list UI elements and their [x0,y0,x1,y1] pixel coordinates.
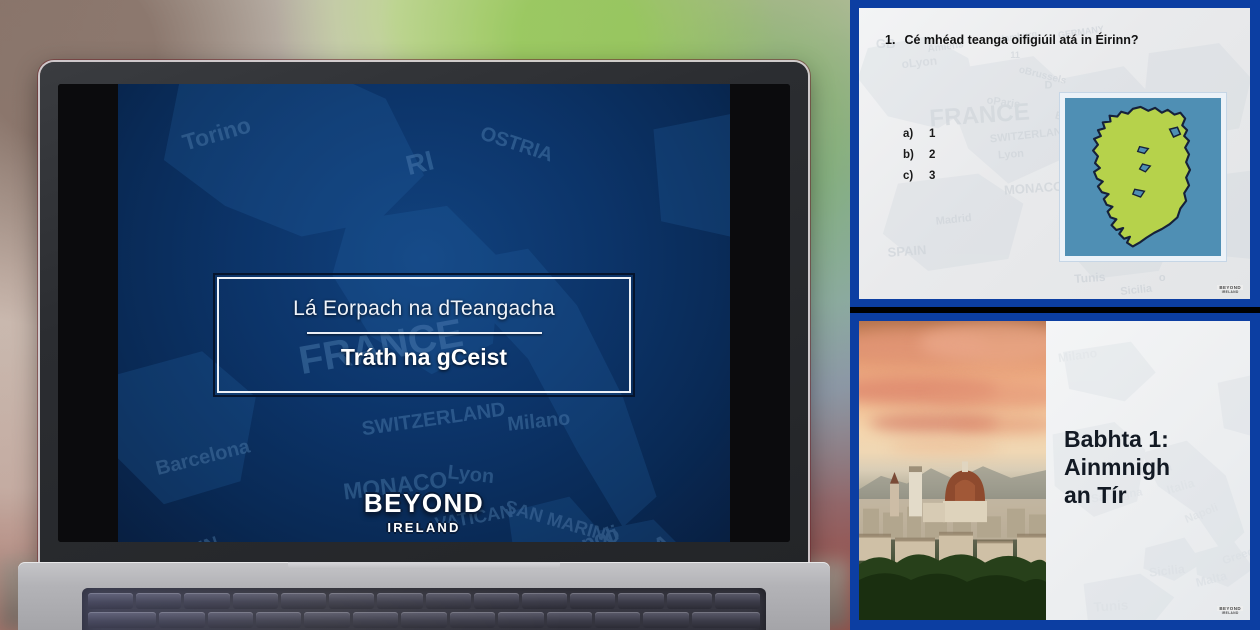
laptop-lid: Torino Torino RI OSTRIA FRANCE SWITZERLA… [40,62,808,570]
key [353,612,398,628]
svg-text:11: 11 [1010,50,1020,60]
svg-text:SPAIN: SPAIN [887,242,927,260]
watermark-secondary: IRELAND [1217,611,1243,615]
key [136,593,181,609]
keyboard-row [88,593,760,609]
svg-text:Milano: Milano [506,407,571,435]
svg-text:SPAIN: SPAIN [159,532,222,542]
title-slide: Torino Torino RI OSTRIA FRANCE SWITZERLA… [118,84,730,542]
key [643,612,688,628]
question-number: 1. [885,33,895,47]
title-divider [307,332,542,334]
key [256,612,301,628]
svg-text:Lyon: Lyon [998,148,1025,162]
laptop-device: Torino Torino RI OSTRIA FRANCE SWITZERLA… [40,62,808,630]
answer-option[interactable]: c) 3 [903,170,935,182]
florence-skyline [859,447,1046,620]
key [474,593,519,609]
beyond-ireland-logo: BEYOND IRELAND [364,488,484,535]
key [184,593,229,609]
answer-option[interactable]: b) 2 [903,149,935,161]
ireland-map-frame [1059,92,1227,262]
key [233,593,278,609]
ireland-map-image [1065,98,1221,256]
svg-text:Tunis: Tunis [1093,597,1129,614]
key [715,593,760,609]
letterbox-right [730,84,790,542]
key [208,612,253,628]
florence-photo [859,321,1046,620]
letterbox-left [58,84,118,542]
key [88,593,133,609]
question-slide-panel: GB Amiens oLyon Hamburg 11 GERMANY oBrus… [850,0,1260,307]
slide-title-line2: Tráth na gCeist [229,344,619,371]
question-slide: GB Amiens oLyon Hamburg 11 GERMANY oBrus… [859,8,1250,299]
brand-secondary: IRELAND [364,520,484,535]
beyond-watermark: BEYOND IRELAND [1217,285,1243,294]
key [547,612,592,628]
brand-primary: BEYOND [364,488,484,519]
key [570,593,615,609]
key [498,612,543,628]
laptop-hinge [288,562,560,569]
question-text: Cé mhéad teanga oifigiúil atá in Éirinn? [904,33,1138,47]
watermark-secondary: IRELAND [1217,290,1243,294]
round-title-line2: Ainmnigh [1064,453,1240,481]
svg-text:RI: RI [403,144,437,181]
slide-title-line1: Lá Eorpach na dTeangacha [229,297,619,321]
beyond-watermark: BEYOND IRELAND [1217,606,1243,615]
round-title-line1: Babhta 1: [1064,425,1240,453]
question-line: 1. Cé mhéad teanga oifigiúil atá in Éiri… [885,33,1232,47]
key [401,612,446,628]
key [692,612,760,628]
laptop-photo: Torino Torino RI OSTRIA FRANCE SWITZERLA… [0,0,850,630]
laptop-keyboard [82,588,766,630]
keyboard-row [88,612,760,628]
answer-value: 1 [929,128,935,140]
key [522,593,567,609]
svg-text:SWITZERLAND: SWITZERLAND [360,398,506,440]
svg-text:D: D [1044,79,1052,91]
key [426,593,471,609]
slide-title-box: Lá Eorpach na dTeangacha Tráth na gCeist [217,277,631,393]
svg-text:Lyon: Lyon [446,461,495,488]
answer-value: 3 [929,170,935,182]
answer-label: b) [903,149,916,161]
answer-list: a) 1 b) 2 c) 3 [903,128,935,191]
svg-text:MONACO: MONACO [1003,179,1063,198]
round-title: Babhta 1: Ainmnigh an Tír [1064,425,1240,509]
svg-text:Sicilia: Sicilia [1120,283,1154,298]
svg-text:Tunis: Tunis [1074,270,1106,286]
svg-text:o: o [1159,272,1166,284]
laptop-screen: Torino Torino RI OSTRIA FRANCE SWITZERLA… [58,84,790,542]
answer-value: 2 [929,149,935,161]
round-title-area: Milano Roma Italia Napoli Sardegna Sicil… [1046,321,1250,620]
answer-label: c) [903,170,916,182]
svg-text:OSTRIA: OSTRIA [478,122,556,166]
screenshot-root: Torino Torino RI OSTRIA FRANCE SWITZERLA… [0,0,1260,630]
cloud [929,383,1046,409]
answer-label: a) [903,128,916,140]
round-title-line3: an Tír [1064,481,1240,509]
key [450,612,495,628]
key [377,593,422,609]
answer-option[interactable]: a) 1 [903,128,935,140]
round-slide: Milano Roma Italia Napoli Sardegna Sicil… [859,321,1250,620]
laptop-base [18,562,830,630]
key [304,612,349,628]
key [159,612,204,628]
key [667,593,712,609]
key [595,612,640,628]
round-slide-panel: Milano Roma Italia Napoli Sardegna Sicil… [850,313,1260,630]
key [329,593,374,609]
key [618,593,663,609]
key [281,593,326,609]
key [88,612,156,628]
